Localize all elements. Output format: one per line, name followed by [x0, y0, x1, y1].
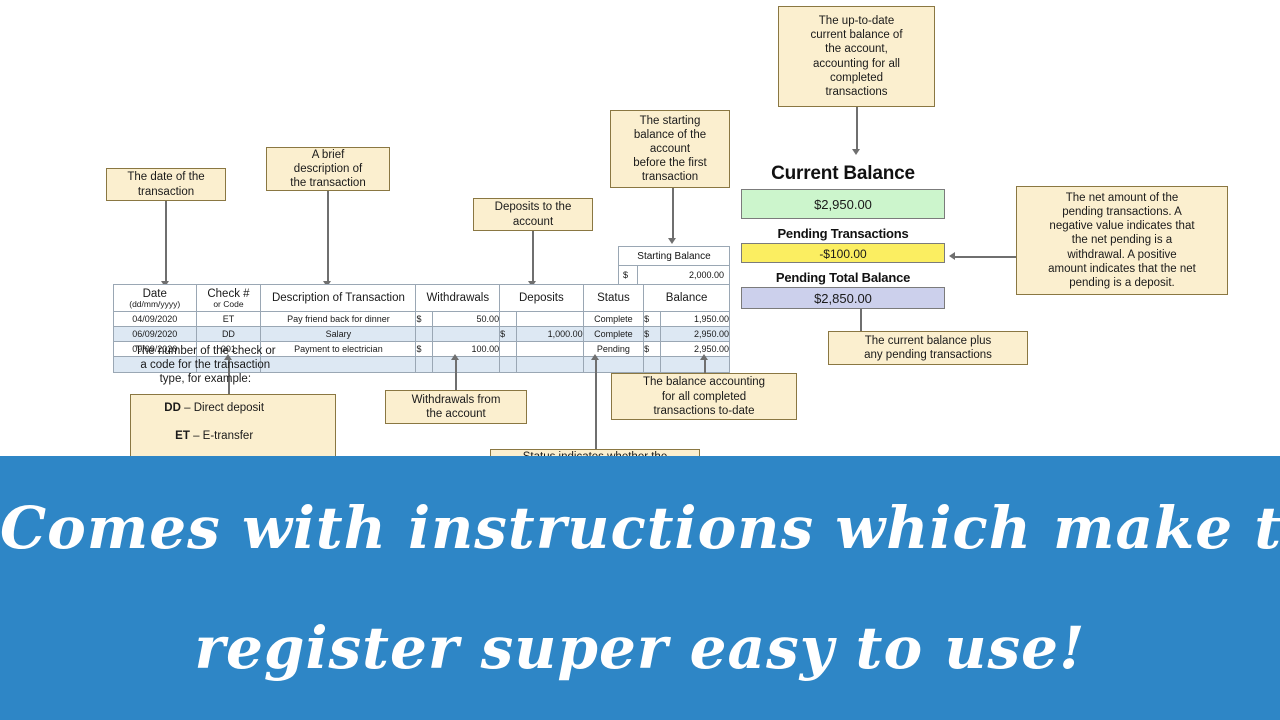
column-header-date: Date (dd/mm/yyyy) — [114, 285, 197, 312]
column-header-description: Description of Transaction — [261, 285, 416, 312]
cell-check: ET — [196, 312, 261, 327]
cell-empty — [660, 357, 729, 373]
starting-balance-table: Starting Balance $ 2,000.00 — [618, 246, 730, 285]
arrowhead-current-balance — [852, 149, 860, 155]
current-balance-label: Current Balance — [741, 163, 945, 185]
column-header-check-sub: or Code — [197, 300, 261, 309]
pending-total-value: $2,850.00 — [741, 287, 945, 309]
check-code-abbr: DD — [164, 402, 181, 414]
cell-withdrawal-currency: $ — [416, 312, 433, 327]
current-balance-value: $2,950.00 — [741, 189, 945, 219]
cell-description: Pay friend back for dinner — [261, 312, 416, 327]
cell-balance: 2,950.00 — [660, 342, 729, 357]
table-row: 06/09/2020 DD Salary $ 1,000.00 Complete… — [114, 327, 730, 342]
cell-empty — [432, 357, 499, 373]
check-code-desc: – E-transfer — [190, 430, 253, 442]
arrowhead-pending-net — [949, 252, 955, 260]
starting-balance-amount: 2,000.00 — [638, 266, 730, 285]
note-description: A brief description of the transaction — [266, 147, 390, 191]
cell-description: Salary — [261, 327, 416, 342]
connector-balance-column — [704, 358, 706, 374]
pending-transactions-value: -$100.00 — [741, 243, 945, 263]
banner-line-2: register super easy to use! — [0, 614, 1280, 682]
cell-withdrawal-currency — [416, 327, 433, 342]
cell-empty — [416, 357, 433, 373]
cell-balance: 1,950.00 — [660, 312, 729, 327]
column-header-date-sub: (dd/mm/yyyy) — [114, 300, 196, 309]
check-code-abbr: ET — [175, 430, 190, 442]
cell-deposit-currency: $ — [500, 327, 517, 342]
connector-current-balance — [856, 107, 858, 151]
column-header-withdrawals: Withdrawals — [416, 285, 500, 312]
cell-balance-currency: $ — [644, 327, 661, 342]
cell-date: 04/09/2020 — [114, 312, 197, 327]
cell-deposit — [516, 312, 583, 327]
cell-deposit: 1,000.00 — [516, 327, 583, 342]
cell-deposit-currency — [500, 342, 517, 357]
note-current-balance: The up-to-date current balance of the ac… — [778, 6, 935, 107]
connector-status — [595, 358, 597, 450]
cell-withdrawal: 50.00 — [432, 312, 499, 327]
check-code-line: ET – E-transfer — [135, 429, 293, 443]
starting-balance-header-row: Starting Balance — [619, 247, 730, 266]
arrowhead-status — [591, 354, 599, 360]
cell-check: DD — [196, 327, 261, 342]
cell-withdrawal: 100.00 — [432, 342, 499, 357]
starting-balance-value-row: $ 2,000.00 — [619, 266, 730, 285]
caption-banner: Comes with instructions which make the r… — [0, 456, 1280, 720]
banner-line-1: Comes with instructions which make the — [0, 494, 1280, 562]
note-deposits: Deposits to the account — [473, 198, 593, 231]
connector-withdrawals — [455, 358, 457, 391]
cell-empty — [500, 357, 517, 373]
cell-balance-currency: $ — [644, 312, 661, 327]
slide-canvas: The date of the transaction A brief desc… — [0, 0, 1280, 720]
column-header-date-label: Date — [143, 288, 167, 300]
register-header-row: Date (dd/mm/yyyy) Check # or Code Descri… — [114, 285, 730, 312]
check-code-line: DD – Direct deposit — [135, 401, 293, 415]
cell-balance-currency: $ — [644, 342, 661, 357]
note-starting-balance: The starting balance of the account befo… — [610, 110, 730, 188]
column-header-check: Check # or Code — [196, 285, 261, 312]
connector-pending-net — [955, 256, 1016, 258]
arrowhead-withdrawals — [451, 354, 459, 360]
column-header-balance: Balance — [644, 285, 730, 312]
cell-status: Complete — [583, 312, 644, 327]
cell-deposit — [516, 342, 583, 357]
column-header-status: Status — [583, 285, 644, 312]
note-pending-net: The net amount of the pending transactio… — [1016, 186, 1228, 295]
cell-empty — [516, 357, 583, 373]
pending-transactions-label: Pending Transactions — [741, 226, 945, 241]
starting-balance-header: Starting Balance — [619, 247, 730, 266]
arrowhead-balance-column — [700, 354, 708, 360]
connector-date — [165, 201, 167, 285]
column-header-check-label: Check # — [207, 288, 249, 300]
note-date: The date of the transaction — [106, 168, 226, 201]
note-balance-column: The balance accounting for all completed… — [611, 373, 797, 420]
table-row: 04/09/2020 ET Pay friend back for dinner… — [114, 312, 730, 327]
connector-deposits — [532, 231, 534, 285]
cell-empty — [644, 357, 661, 373]
check-code-desc: – Direct deposit — [181, 402, 264, 414]
cell-status: Complete — [583, 327, 644, 342]
balance-summary-panel: Current Balance $2,950.00 Pending Transa… — [741, 163, 945, 309]
note-withdrawals: Withdrawals from the account — [385, 390, 527, 424]
connector-starting-balance — [672, 188, 674, 240]
arrowhead-starting-balance — [668, 238, 676, 244]
cell-withdrawal — [432, 327, 499, 342]
starting-balance-currency: $ — [619, 266, 638, 285]
note-pending-total: The current balance plus any pending tra… — [828, 331, 1028, 365]
cell-withdrawal-currency: $ — [416, 342, 433, 357]
column-header-deposits: Deposits — [500, 285, 584, 312]
cell-balance: 2,950.00 — [660, 327, 729, 342]
cell-date: 06/09/2020 — [114, 327, 197, 342]
cell-description: Payment to electrician — [261, 342, 416, 357]
pending-total-label: Pending Total Balance — [741, 270, 945, 285]
cell-deposit-currency — [500, 312, 517, 327]
cell-empty — [261, 357, 416, 373]
note-check-code-intro: The number of the check or a code for th… — [135, 344, 276, 386]
connector-description — [327, 191, 329, 285]
